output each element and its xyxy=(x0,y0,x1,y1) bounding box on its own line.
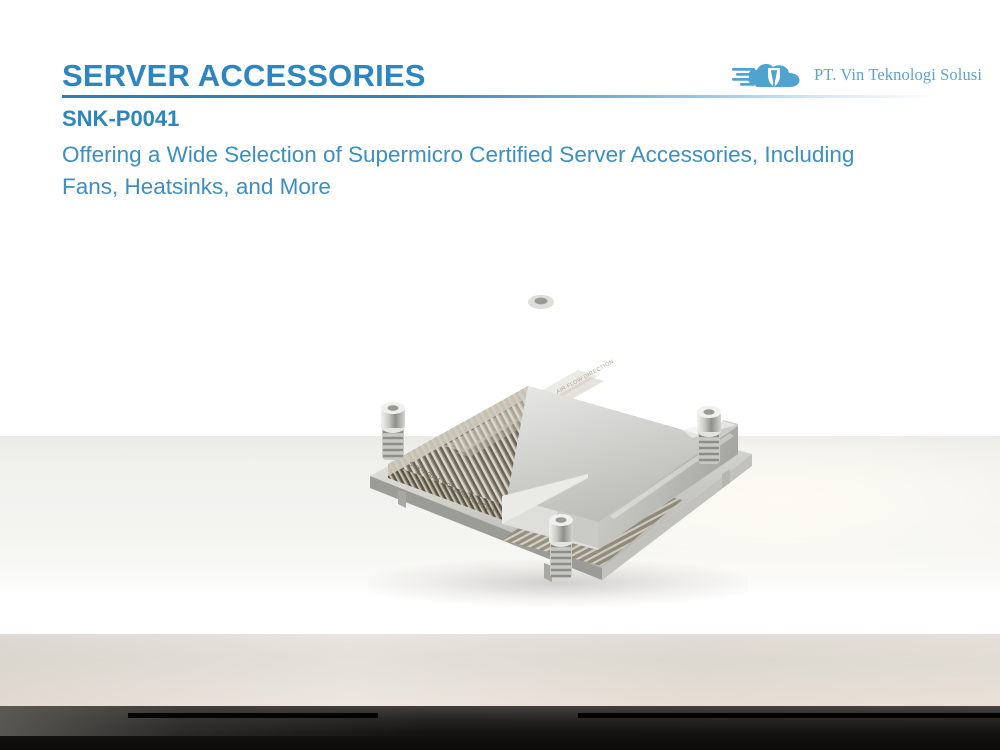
slide-header: SERVER ACCESSORIES PT. Vin Teknologi Sol… xyxy=(0,0,1000,104)
slide-canvas: SERVER ACCESSORIES PT. Vin Teknologi Sol… xyxy=(0,0,1000,750)
product-tagline: Offering a Wide Selection of Supermicro … xyxy=(62,139,902,203)
brand-logo: PT. Vin Teknologi Solusi xyxy=(731,58,982,92)
brand-name-label: PT. Vin Teknologi Solusi xyxy=(814,65,982,85)
page-title: SERVER ACCESSORIES xyxy=(62,60,426,91)
product-model-code: SNK-P0041 xyxy=(62,108,179,130)
backdrop-band-beige-sheen xyxy=(0,634,1000,708)
footer-strip-left xyxy=(128,713,378,718)
header-divider-rule xyxy=(62,95,942,98)
footer-strip-right xyxy=(578,713,1000,718)
cloud-speed-lines-icon xyxy=(731,58,807,92)
heatsink-illustration xyxy=(352,278,772,618)
backdrop-band-dark-fade xyxy=(0,706,1000,736)
product-image: SNK-P0041 LGA1366 P0 REV A AIR FLOW DIRE… xyxy=(352,278,772,618)
